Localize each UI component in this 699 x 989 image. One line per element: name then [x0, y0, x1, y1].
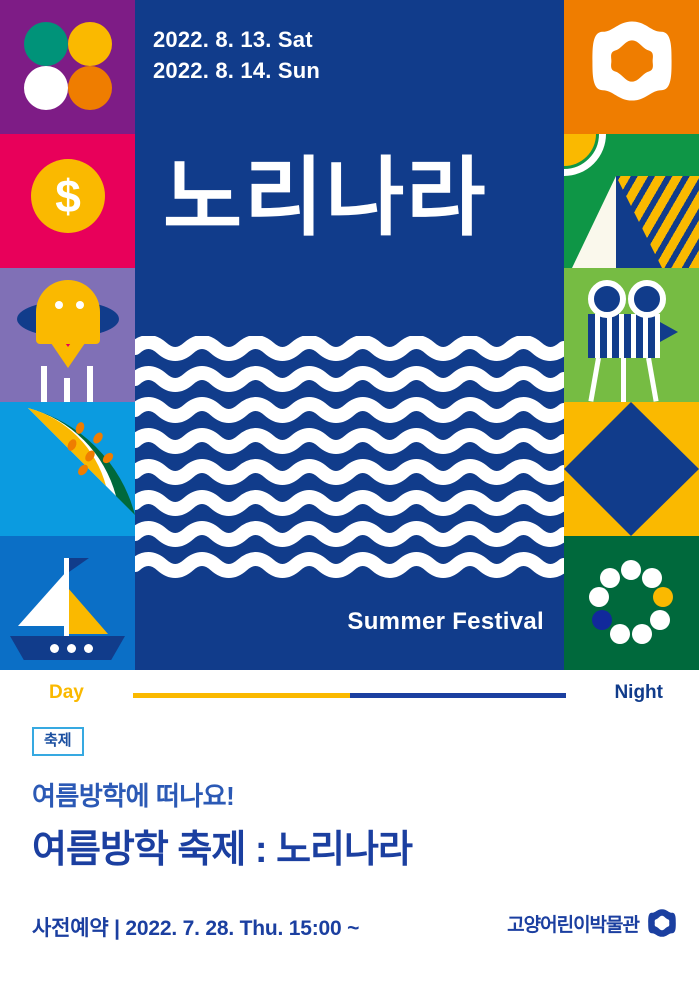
slider-track-night	[350, 693, 567, 698]
ufo-ray-icon	[87, 366, 93, 402]
poster-main-title: 노리나라	[163, 155, 563, 241]
watermelon-icon	[0, 402, 135, 536]
ufo-dome-icon	[36, 280, 100, 344]
camera-body-icon	[588, 314, 660, 358]
ufo-eye-left-icon	[55, 301, 63, 309]
poster-artboard: $	[0, 0, 699, 670]
tent-tile	[564, 134, 699, 268]
poster: $	[0, 0, 699, 989]
dollar-glyph: $	[31, 159, 105, 233]
left-tile-column: $	[0, 0, 135, 670]
triangle-bottom-right-icon	[631, 469, 699, 536]
camera-lens-icon	[660, 322, 678, 342]
dollar-coin-icon: $	[31, 159, 105, 233]
ufo-ray-icon	[41, 366, 47, 402]
dot-white-icon	[621, 560, 641, 580]
dot-navy-icon	[592, 610, 612, 630]
tripod-leg-icon	[646, 358, 659, 402]
ufo-ray-icon	[64, 378, 70, 402]
night-label: Night	[614, 682, 663, 704]
event-date-line-1: 2022. 8. 13. Sat	[153, 24, 320, 55]
ufo-tile	[0, 268, 135, 402]
porthole-icon	[67, 644, 76, 653]
wave-pattern	[135, 336, 564, 584]
right-tile-column	[564, 0, 699, 670]
dot-white-icon	[642, 568, 662, 588]
triangle-top-right-icon	[631, 402, 699, 469]
event-date-line-2: 2022. 8. 14. Sun	[153, 55, 320, 86]
triangle-top-left-icon	[564, 402, 631, 469]
circle-teal-icon	[24, 22, 68, 66]
film-reel-icon	[588, 280, 626, 318]
day-label: Day	[49, 682, 84, 704]
film-reel-icon	[628, 280, 666, 318]
ufo-eye-right-icon	[76, 301, 84, 309]
category-badge: 축제	[32, 727, 84, 756]
tent-navy-side-icon	[616, 176, 662, 268]
circle-white-icon	[24, 66, 68, 110]
museum-logo-name: 고양어린이박물관	[507, 910, 639, 937]
sail-yellow-icon	[68, 588, 108, 634]
poster-center: 2022. 8. 13. Sat 2022. 8. 14. Sun 노리나라	[135, 0, 564, 670]
dot-white-icon	[632, 624, 652, 644]
poster-subtitle-en: Summer Festival	[347, 608, 544, 636]
flag-icon	[69, 558, 89, 572]
camera-tile	[564, 268, 699, 402]
dot-ring-tile	[564, 536, 699, 670]
poster-headline: 여름방학 축제 : 노리나라	[32, 818, 412, 873]
dot-white-icon	[650, 610, 670, 630]
tripod-leg-icon	[621, 358, 626, 402]
watermelon-tile	[0, 402, 135, 536]
dot-white-icon	[610, 624, 630, 644]
museum-logo: 고양어린이박물관	[507, 908, 677, 938]
triangle-bottom-left-icon	[564, 469, 631, 536]
dot-yellow-icon	[653, 587, 673, 607]
tent-white-side-icon	[572, 176, 616, 268]
tripod-leg-icon	[588, 358, 601, 402]
reservation-info: 사전예약 | 2022. 7. 28. Thu. 15:00 ~	[32, 912, 359, 942]
sail-white-icon	[18, 572, 66, 626]
slider-track[interactable]	[133, 693, 566, 698]
day-night-slider[interactable]: Day Night	[0, 670, 699, 718]
flower-mark-icon	[647, 908, 677, 938]
porthole-icon	[84, 644, 93, 653]
circle-orange-icon	[68, 66, 112, 110]
sailboat-tile	[0, 536, 135, 670]
slider-track-day	[133, 693, 350, 698]
flower-icon	[589, 18, 675, 104]
poster-kicker: 여름방학에 떠나요!	[32, 776, 234, 813]
circle-yellow-icon	[68, 22, 112, 66]
dot-white-icon	[600, 568, 620, 588]
flower-tile	[564, 0, 699, 134]
x-pattern-tile	[564, 402, 699, 536]
porthole-icon	[50, 644, 59, 653]
wave-pattern-svg	[135, 336, 564, 584]
event-dates: 2022. 8. 13. Sat 2022. 8. 14. Sun	[153, 24, 320, 86]
four-circles-tile	[0, 0, 135, 134]
coin-tile: $	[0, 134, 135, 268]
dot-white-icon	[589, 587, 609, 607]
